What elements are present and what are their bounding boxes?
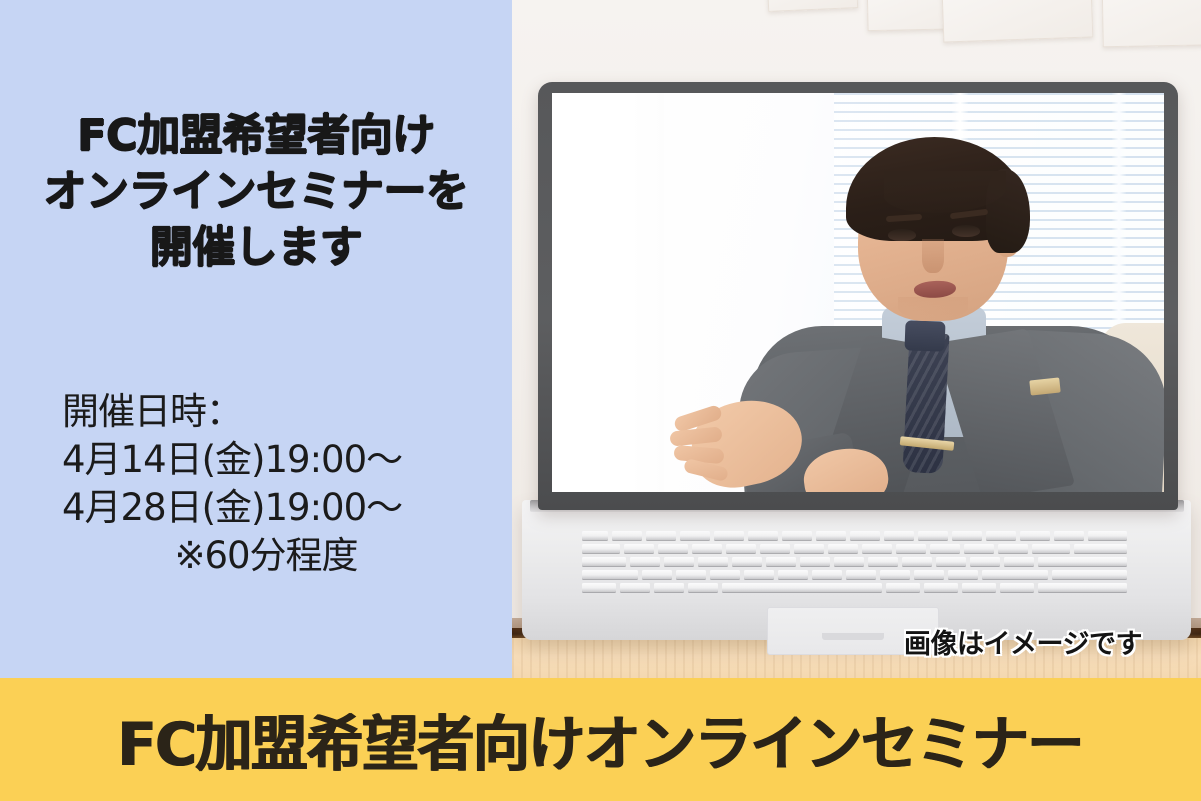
headline-line-2: オンラインセミナーを: [0, 164, 512, 220]
keyboard-row: [582, 583, 1127, 593]
eye-left: [888, 229, 916, 241]
necktie-knot: [904, 320, 945, 351]
schedule-date-1: 4月14日(金)19:00〜: [0, 436, 512, 484]
chin: [898, 297, 968, 319]
schedule-duration: ※60分程度: [0, 532, 512, 580]
laptop-lid-notch: [822, 633, 884, 640]
schedule-date-2: 4月28日(金)19:00〜: [0, 484, 512, 532]
wall-picture-frame: [941, 0, 1094, 43]
wall-picture-frame: [766, 0, 858, 12]
necktie: [902, 332, 949, 474]
headline-line-1: FC加盟希望者向け: [0, 108, 512, 164]
headline: FC加盟希望者向け オンラインセミナーを 開催します: [0, 108, 512, 276]
keyboard-row: [582, 570, 1127, 580]
banner-title: FC加盟希望者向けオンラインセミナー: [36, 678, 1165, 801]
laptop-screen: [552, 93, 1164, 492]
headline-line-3: 開催します: [0, 220, 512, 276]
bottom-banner: FC加盟希望者向けオンラインセミナー: [0, 678, 1201, 801]
laptop-keyboard: [582, 531, 1127, 595]
keyboard-row: [582, 531, 1127, 541]
info-panel: FC加盟希望者向け オンラインセミナーを 開催します 開催日時： 4月14日(金…: [0, 0, 512, 678]
schedule-label: 開催日時：: [0, 388, 512, 436]
wall-picture-frame: [1101, 0, 1201, 47]
schedule-block: 開催日時： 4月14日(金)19:00〜 4月28日(金)19:00〜 ※60分…: [0, 388, 512, 580]
seminar-photo: 画像はイメージです: [512, 0, 1201, 678]
video-wall-left: [552, 93, 664, 492]
nose: [922, 239, 944, 273]
seminar-poster: 画像はイメージです FC加盟希望者向け オンラインセミナーを 開催します 開催日…: [0, 0, 1201, 801]
keyboard-row: [582, 544, 1127, 554]
image-disclaimer-caption: 画像はイメージです: [904, 622, 1142, 661]
businessman-figure: [700, 111, 1164, 492]
eye-right: [952, 225, 980, 237]
keyboard-row: [582, 557, 1127, 567]
lapel-pin: [1029, 377, 1060, 395]
